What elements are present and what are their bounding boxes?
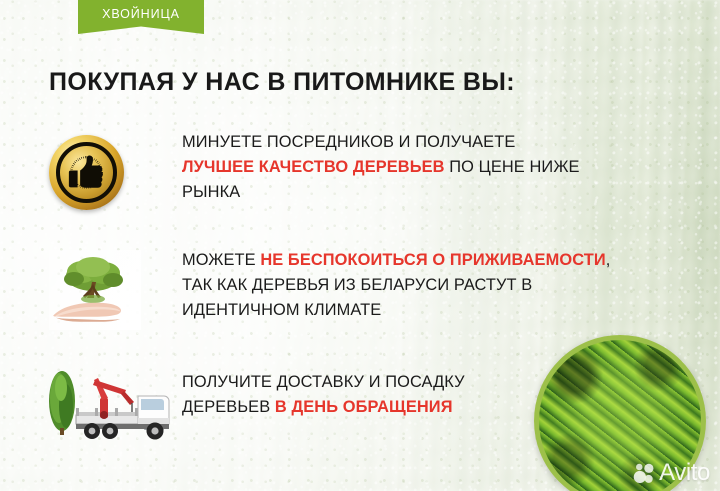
benefit-item-1: МИНУЕТЕ ПОСРЕДНИКОВ И ПОЛУЧАЕТЕ ЛУЧШЕЕ К…	[0, 122, 720, 240]
benefit-1-text-cell: МИНУЕТЕ ПОСРЕДНИКОВ И ПОЛУЧАЕТЕ ЛУЧШЕЕ К…	[182, 122, 720, 205]
brand-ribbon-label: ХВОЙНИЦА	[102, 0, 180, 21]
benefit-1-line-2: ЛУЧШЕЕ КАЧЕСТВО ДЕРЕВЬЕВ ПО ЦЕНЕ НИЖЕ	[182, 155, 720, 180]
promo-poster: ХВОЙНИЦА ПОКУПАЯ У НАС В ПИТОМНИКЕ ВЫ:	[0, 0, 720, 491]
benefit-1-highlight: ЛУЧШЕЕ КАЧЕСТВО ДЕРЕВЬЕВ	[182, 158, 445, 176]
page-title: ПОКУПАЯ У НАС В ПИТОМНИКЕ ВЫ:	[49, 70, 515, 95]
hand-holding-tree-icon	[49, 250, 141, 330]
benefit-3-line-2-part-1: ДЕРЕВЬЕВ	[182, 398, 275, 416]
benefit-2-line-1: МОЖЕТЕ НЕ БЕСПОКОИТЬСЯ О ПРИЖИВАЕМОСТИ,	[182, 248, 720, 273]
benefit-1-line-1: МИНУЕТЕ ПОСРЕДНИКОВ И ПОЛУЧАЕТЕ	[182, 130, 720, 155]
benefit-1-icon-cell	[0, 122, 182, 240]
benefit-2-highlight: НЕ БЕСПОКОИТЬСЯ О ПРИЖИВАЕМОСТИ	[260, 251, 605, 269]
benefit-1-line-3-part-1: РЫНКА	[182, 183, 240, 201]
benefit-2-line-2-part-1: ТАК КАК ДЕРЕВЬЯ ИЗ БЕЛАРУСИ РАСТУТ В	[182, 276, 532, 294]
benefit-2-line-1-part-3: ,	[606, 251, 611, 269]
benefit-2-line-3-part-1: ИДЕНТИЧНОМ КЛИМАТЕ	[182, 301, 381, 319]
benefit-1-line-1-part-1: МИНУЕТЕ ПОСРЕДНИКОВ И ПОЛУЧАЕТЕ	[182, 133, 515, 151]
benefit-2-icon-cell	[0, 240, 182, 362]
crane-truck-with-tree-icon	[40, 368, 182, 442]
benefit-2-text-cell: МОЖЕТЕ НЕ БЕСПОКОИТЬСЯ О ПРИЖИВАЕМОСТИ, …	[182, 240, 720, 323]
benefit-3-icon-cell	[0, 362, 182, 462]
benefit-1-line-3: РЫНКА	[182, 180, 720, 205]
benefit-2-line-1-part-1: МОЖЕТЕ	[182, 251, 260, 269]
gold-thumbs-up-seal-icon	[49, 135, 124, 210]
benefit-1-line-2-part-2: ПО ЦЕНЕ НИЖЕ	[445, 158, 580, 176]
benefit-2-line-2: ТАК КАК ДЕРЕВЬЯ ИЗ БЕЛАРУСИ РАСТУТ В	[182, 273, 720, 298]
benefit-2-text: МОЖЕТЕ НЕ БЕСПОКОИТЬСЯ О ПРИЖИВАЕМОСТИ, …	[182, 248, 720, 323]
benefit-2-line-3: ИДЕНТИЧНОМ КЛИМАТЕ	[182, 298, 720, 323]
benefit-3-highlight: В ДЕНЬ ОБРАЩЕНИЯ	[275, 398, 453, 416]
benefit-3-line-1-part-1: ПОЛУЧИТЕ ДОСТАВКУ И ПОСАДКУ	[182, 373, 465, 391]
benefit-1-text: МИНУЕТЕ ПОСРЕДНИКОВ И ПОЛУЧАЕТЕ ЛУЧШЕЕ К…	[182, 130, 720, 205]
